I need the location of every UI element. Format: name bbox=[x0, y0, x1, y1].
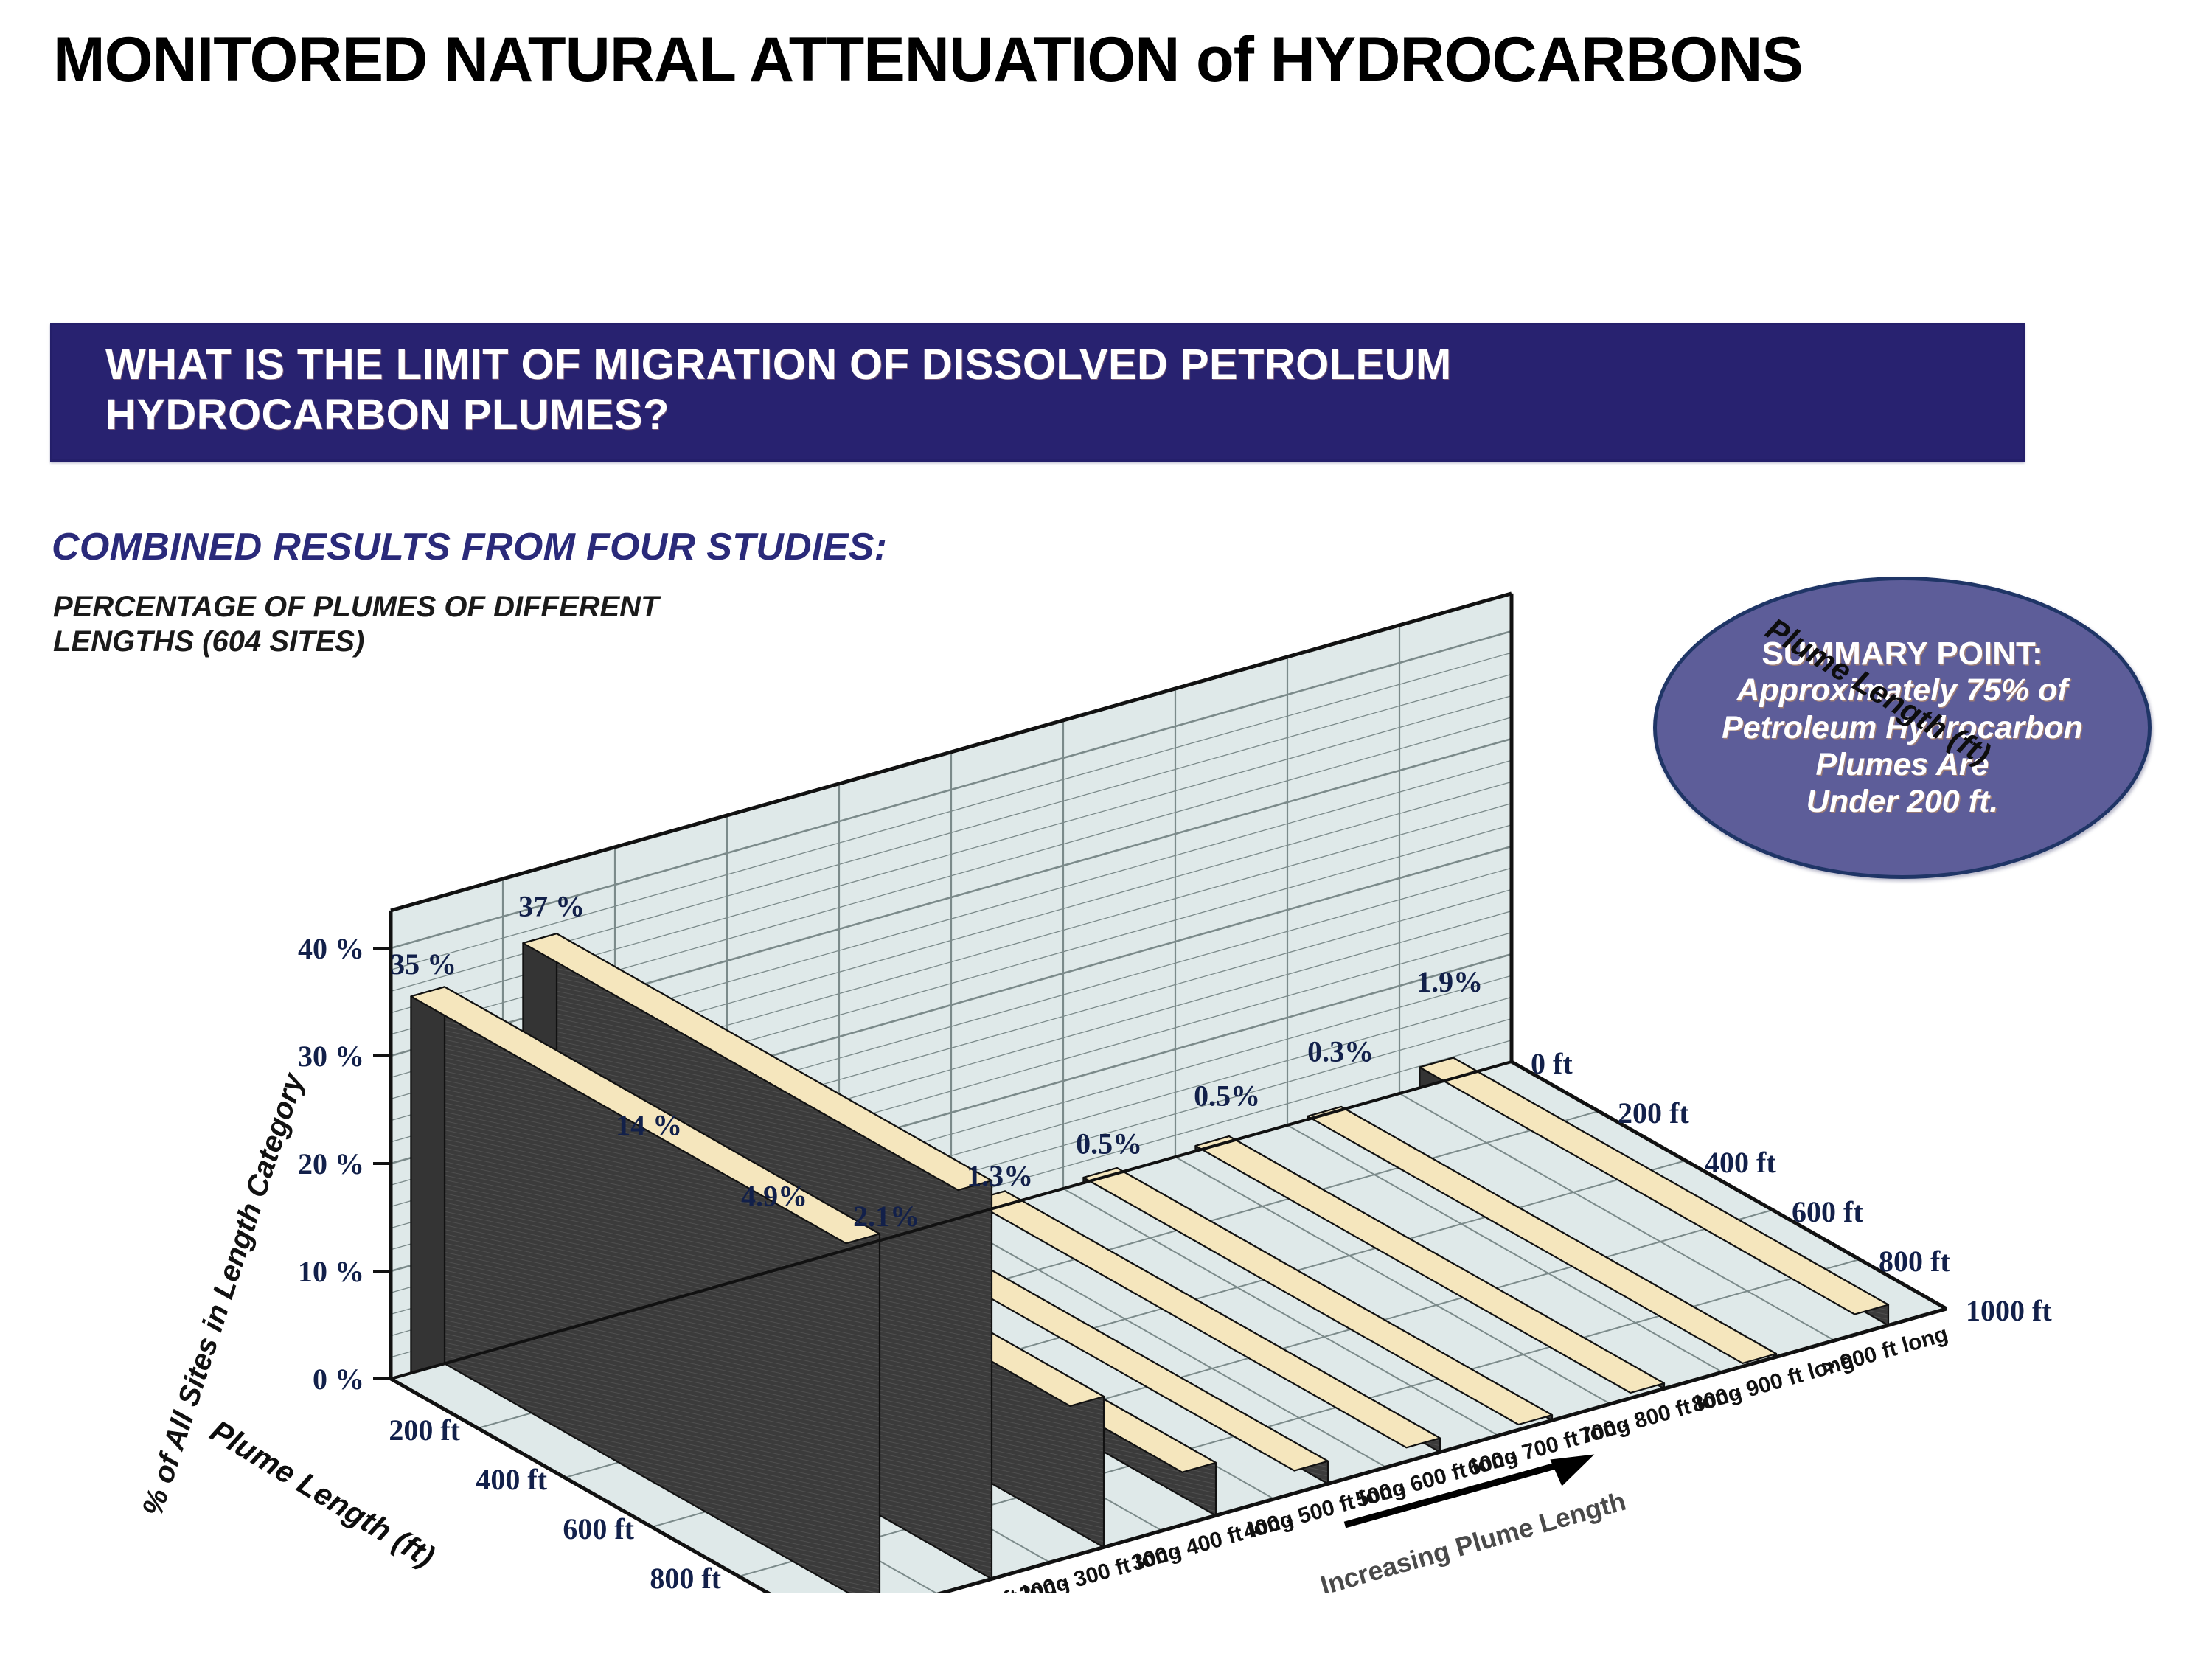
depth-axis-right-tick-label: 1000 ft bbox=[1966, 1294, 2052, 1327]
bar-value-label: 0.5% bbox=[1194, 1079, 1260, 1113]
bar-value-label: 0.3% bbox=[1307, 1034, 1374, 1068]
bar-value-label: 1.3% bbox=[967, 1159, 1033, 1192]
bar-value-label: 14 % bbox=[616, 1108, 682, 1141]
bar-value-label: 0.5% bbox=[1076, 1127, 1142, 1161]
bar-value-label: 1.9% bbox=[1416, 965, 1483, 998]
bar-front-face bbox=[411, 987, 445, 1373]
bar-value-label: 4.9% bbox=[741, 1179, 807, 1212]
bar-value-label: 37 % bbox=[518, 890, 585, 923]
chart-geometry bbox=[373, 594, 1947, 1593]
depth-axis-right-title: Plume Length (ft) bbox=[1760, 611, 1996, 772]
depth-axis-left-tick-label: 200 ft bbox=[389, 1413, 460, 1447]
depth-axis-left-tick-label: 600 ft bbox=[563, 1512, 634, 1545]
depth-axis-left-tick-label: 800 ft bbox=[650, 1562, 721, 1593]
depth-axis-right-tick-label: 200 ft bbox=[1618, 1096, 1689, 1130]
plume-length-3d-bar-chart: 0 %10 %20 %30 %40 %% of All Sites in Len… bbox=[0, 560, 2212, 1593]
depth-axis-right-tick-label: 400 ft bbox=[1705, 1146, 1776, 1179]
depth-axis-right-tick-label: 600 ft bbox=[1792, 1195, 1863, 1228]
banner-line-2: HYDROCARBON PLUMES? bbox=[105, 390, 2023, 440]
question-banner: WHAT IS THE LIMIT OF MIGRATION OF DISSOL… bbox=[50, 323, 2025, 462]
y-axis-tick-label: 0 % bbox=[313, 1363, 364, 1396]
y-axis-tick-label: 10 % bbox=[298, 1255, 364, 1288]
depth-axis-left-tick-label: 400 ft bbox=[476, 1463, 547, 1496]
depth-axis-right-tick-label: 800 ft bbox=[1879, 1245, 1950, 1278]
depth-axis-right-tick-label: 0 ft bbox=[1531, 1047, 1573, 1080]
y-axis-tick-label: 30 % bbox=[298, 1040, 364, 1073]
bar-value-label: 35 % bbox=[390, 947, 456, 981]
arrow-head-icon bbox=[1550, 1454, 1594, 1486]
y-axis-tick-label: 20 % bbox=[298, 1147, 364, 1180]
banner-line-1: WHAT IS THE LIMIT OF MIGRATION OF DISSOL… bbox=[105, 340, 2023, 390]
page-title: MONITORED NATURAL ATTENUATION of HYDROCA… bbox=[53, 28, 2145, 91]
bar-value-label: 2.1% bbox=[853, 1200, 919, 1233]
y-axis-tick-label: 40 % bbox=[298, 932, 364, 965]
